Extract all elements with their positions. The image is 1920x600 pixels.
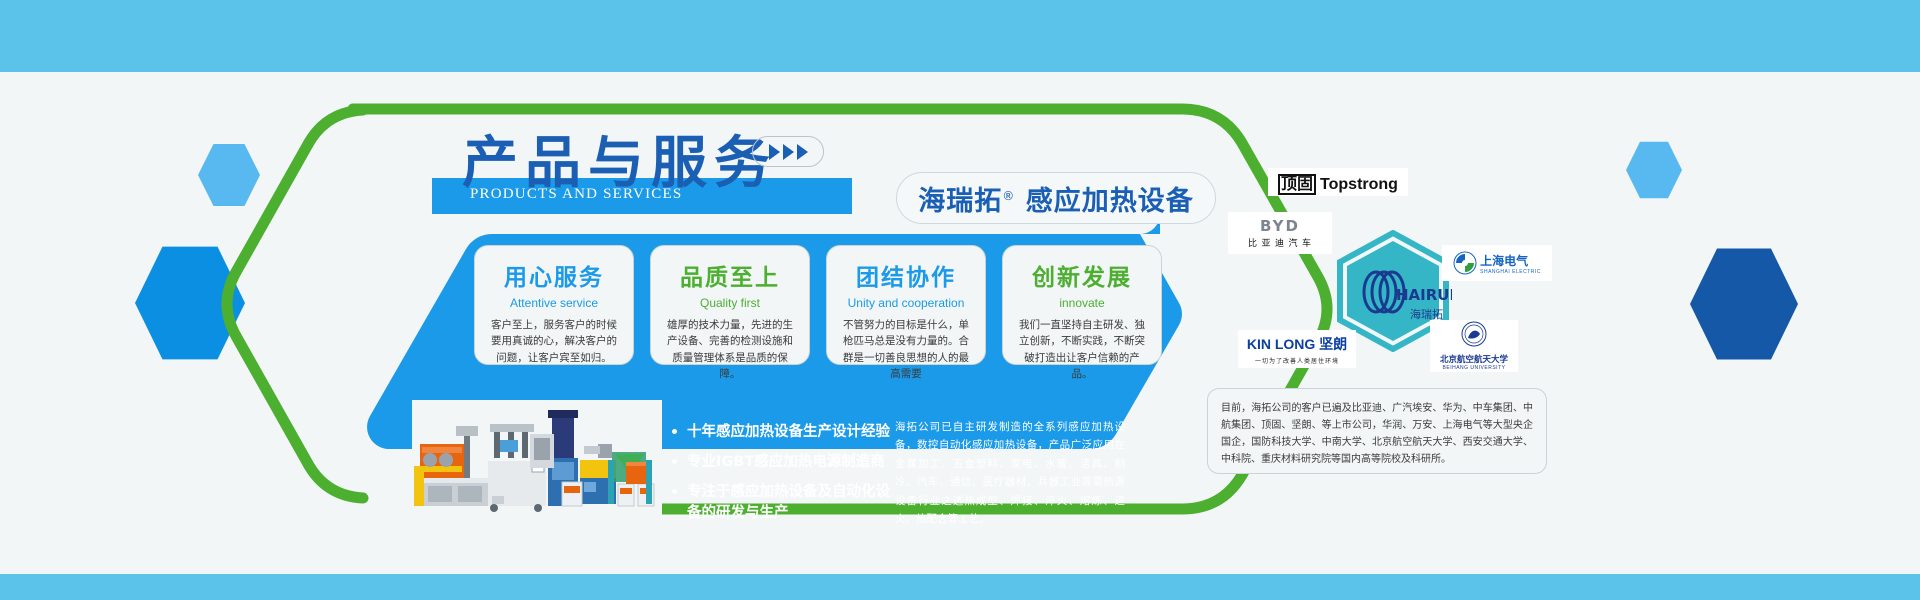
- beihang-seal-icon: [1461, 321, 1487, 347]
- feature-card-innovate[interactable]: 创新发展 innovate 我们一直坚持自主研发、独立创新，不断实践，不断突破打…: [1002, 245, 1162, 365]
- hairuituo-logo-en: HAIRUITUO: [1396, 286, 1452, 304]
- hexagon-decoration-large: [135, 243, 245, 363]
- topstrong-logo-en: Topstrong: [1320, 176, 1398, 193]
- clients-paragraph: 目前，海拓公司的客户已遍及比亚迪、广汽埃安、华为、中车集团、中航集团、顶固、坚朗…: [1221, 400, 1533, 468]
- beihang-en: BEIHANG UNIVERSITY: [1440, 365, 1508, 371]
- list-item: 专注于感应加热设备及自动化设备的研发与生产: [672, 482, 902, 524]
- feature-card-quality-first[interactable]: 品质至上 Quality first 雄厚的技术力量，先进的生产设备、完善的检测…: [650, 245, 810, 365]
- triple-chevron-right-icon: [752, 136, 824, 167]
- card-title-en: innovate: [1003, 296, 1161, 310]
- byd-logo-en: BYD: [1248, 217, 1312, 235]
- kinlong-logo-zh: 坚朗: [1319, 336, 1347, 352]
- registered-mark: ®: [1002, 189, 1015, 203]
- client-logo-beihang: 北京航空航天大学 BEIHANG UNIVERSITY: [1430, 320, 1518, 372]
- card-title-zh: 品质至上: [651, 258, 809, 292]
- brand-badge-text: 海瑞拓® 感应加热设备: [918, 179, 1193, 218]
- top-color-band: [0, 0, 1920, 72]
- client-logo-shanghai-electric: 上海电气 SHANGHAI ELECTRIC: [1442, 245, 1552, 281]
- hexagon-decoration-small-light: [198, 142, 260, 208]
- card-title-en: Quality first: [651, 296, 809, 310]
- poster-canvas: PRODUCTS AND SERVICES 产品与服务 海瑞拓® 感应加热设备 …: [0, 0, 1920, 600]
- brand-product: 感应加热设备: [1026, 186, 1194, 217]
- kinlong-tagline: 一切为了改善人类居住环境: [1247, 356, 1347, 365]
- shanghai-electric-en: SHANGHAI ELECTRIC: [1480, 269, 1541, 275]
- clients-summary-card: 目前，海拓公司的客户已遍及比亚迪、广汽埃安、华为、中车集团、中航集团、顶固、坚朗…: [1207, 388, 1547, 474]
- card-title-zh: 用心服务: [475, 258, 633, 292]
- shanghai-electric-zh: 上海电气: [1480, 252, 1541, 269]
- hexagon-decoration-right-dark: [1690, 245, 1798, 363]
- card-title-zh: 创新发展: [1003, 258, 1161, 292]
- page-title: 产品与服务: [462, 118, 777, 199]
- brand-badge: 海瑞拓® 感应加热设备: [896, 172, 1216, 224]
- shanghai-electric-mark-icon: [1453, 251, 1477, 275]
- hairuituo-logo-zh: 海瑞拓: [1410, 307, 1443, 321]
- card-title-zh: 团结协作: [827, 258, 985, 292]
- kinlong-logo-en: KIN LONG: [1247, 336, 1315, 352]
- bottom-color-band: [0, 574, 1920, 600]
- card-body: 客户至上，服务客户的时候要用真诚的心，解决客户的问题，让客户宾至如归。: [486, 317, 622, 366]
- feature-card-unity-cooperation[interactable]: 团结协作 Unity and cooperation 不管努力的目标是什么，单枪…: [826, 245, 986, 365]
- list-item: 十年感应加热设备生产设计经验: [672, 422, 902, 443]
- card-title-en: Attentive service: [475, 296, 633, 310]
- hexagon-decoration-right-light: [1626, 140, 1682, 200]
- beihang-zh: 北京航空航天大学: [1440, 353, 1508, 365]
- company-description-paragraph: 海拓公司已自主研发制造的全系列感应加热设备，数控自动化感应加热设备，产品广泛应用…: [895, 418, 1125, 528]
- card-title-en: Unity and cooperation: [827, 296, 985, 310]
- client-logo-kinlong: KIN LONG 坚朗 一切为了改善人类居住环境: [1238, 330, 1356, 368]
- client-logo-topstrong: 顶固Topstrong: [1268, 168, 1408, 196]
- byd-logo-zh: 比 亚 迪 汽 车: [1248, 236, 1312, 249]
- topstrong-logo-zh: 顶固: [1278, 174, 1316, 195]
- feature-card-attentive-service[interactable]: 用心服务 Attentive service 客户至上，服务客户的时候要用真诚的…: [474, 245, 634, 365]
- card-body: 不管努力的目标是什么，单枪匹马总是没有力量的。合群是一切善良思想的人的最高需要: [838, 317, 974, 382]
- list-item: 专业IGBT感应加热电源制造商: [672, 452, 902, 473]
- brand-name: 海瑞拓: [918, 186, 1002, 217]
- machinery-photo: [412, 400, 662, 518]
- client-logo-byd: BYD 比 亚 迪 汽 车: [1228, 212, 1332, 254]
- card-body: 我们一直坚持自主研发、独立创新，不断实践，不断突破打造出让客户信赖的产品。: [1014, 317, 1150, 382]
- card-body: 雄厚的技术力量，先进的生产设备、完善的检测设施和质量管理体系是品质的保障。: [662, 317, 798, 382]
- feature-bullet-list: 十年感应加热设备生产设计经验 专业IGBT感应加热电源制造商 专注于感应加热设备…: [672, 422, 902, 533]
